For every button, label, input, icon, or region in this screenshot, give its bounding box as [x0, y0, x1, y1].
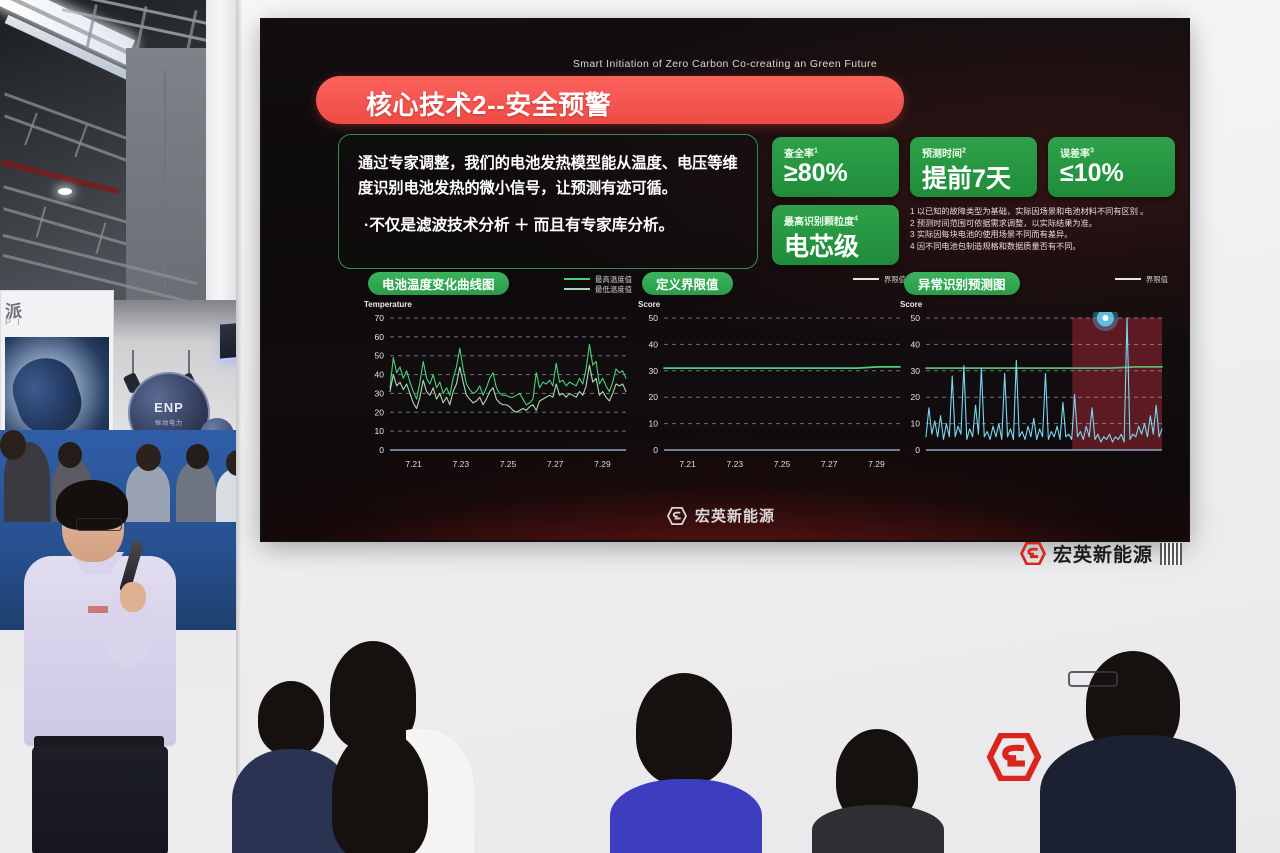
svg-text:30: 30 — [375, 388, 385, 398]
legend-swatch — [564, 278, 590, 280]
kpi-label: 查全率1 — [784, 145, 818, 160]
kpi-value: 电芯级 — [784, 227, 859, 263]
hongying-hex-icon — [667, 507, 687, 525]
footnote-1: 1 以已知的故障类型为基础，实际因场景和电池材料不同有区别 。 — [910, 206, 1178, 218]
kpi-value: ≤10% — [1060, 159, 1124, 188]
svg-text:7.25: 7.25 — [500, 459, 517, 469]
slide-body-paragraph: 通过专家调整，我们的电池发热模型能从温度、电压等维度识别电池发热的微小信号，让预… — [358, 151, 742, 201]
svg-text:70: 70 — [375, 313, 385, 323]
slide-eyebrow: Smart Initiation of Zero Carbon Co-creat… — [262, 58, 1188, 70]
svg-text:7.23: 7.23 — [727, 459, 744, 469]
kpi-label: 最高识别颗粒度4 — [784, 213, 858, 228]
svg-text:7.29: 7.29 — [868, 459, 885, 469]
svg-text:7.21: 7.21 — [679, 459, 696, 469]
chart-plot-area: 01020304050 — [896, 312, 1168, 476]
chart-plot-area: 0102030405060707.217.237.257.277.29 — [360, 312, 632, 476]
slide-footnotes: 1 以已知的故障类型为基础，实际因场景和电池材料不同有区别 。 2 预测时间范围… — [910, 206, 1178, 252]
kpi-card-recall: 查全率1 ≥80% — [772, 137, 899, 197]
presentation-screen[interactable]: Smart Initiation of Zero Carbon Co-creat… — [262, 20, 1188, 540]
svg-text:50: 50 — [649, 313, 659, 323]
svg-text:40: 40 — [375, 370, 385, 380]
svg-text:10: 10 — [375, 426, 385, 436]
svg-text:20: 20 — [911, 392, 921, 402]
svg-text:7.25: 7.25 — [774, 459, 791, 469]
svg-text:40: 40 — [649, 339, 659, 349]
legend-label: 界限值 — [1146, 274, 1168, 285]
svg-text:20: 20 — [649, 392, 659, 402]
legend-swatch — [564, 288, 590, 290]
footnote-2: 2 预测时间范围可依据需求调整，以实际结果为准。 — [910, 218, 1178, 230]
slide-footer-logo: 宏英新能源 — [667, 505, 775, 526]
chart-plot-area: 010203040507.217.237.257.277.29 — [634, 312, 906, 476]
svg-text:50: 50 — [375, 351, 385, 361]
svg-text:7.21: 7.21 — [405, 459, 422, 469]
audience-row: ONGI — [0, 553, 1280, 853]
chart-temperature: 电池温度变化曲线图 最高温度值 最低温度值 Temperature 010203… — [360, 272, 632, 484]
chart-title: 定义界限值 — [642, 272, 733, 295]
glasses-icon — [76, 518, 122, 531]
svg-text:0: 0 — [653, 445, 658, 455]
svg-text:30: 30 — [649, 366, 659, 376]
svg-text:40: 40 — [911, 339, 921, 349]
svg-text:20: 20 — [375, 407, 385, 417]
legend-swatch — [1115, 278, 1141, 280]
svg-text:7.27: 7.27 — [821, 459, 838, 469]
svg-text:50: 50 — [911, 313, 921, 323]
svg-text:10: 10 — [649, 419, 659, 429]
svg-text:7.23: 7.23 — [453, 459, 470, 469]
kpi-card-lead-time: 预测时间2 提前7天 — [910, 137, 1037, 197]
svg-text:60: 60 — [375, 332, 385, 342]
footnote-4: 4 因不同电池包制造规格和数据质量否有不同。 — [910, 241, 1178, 253]
screenshot-scene: 派 P I ENP 恒动电力 — [0, 0, 1280, 853]
svg-text:30: 30 — [911, 366, 921, 376]
kpi-value: 提前7天 — [922, 159, 1011, 195]
left-booth-sub: P I — [5, 317, 22, 327]
kpi-label: 预测时间2 — [922, 145, 966, 160]
slide-title-banner: 核心技术2--安全预警 — [316, 76, 904, 124]
svg-text:10: 10 — [911, 419, 921, 429]
chart-legend: 最高温度值 最低温度值 — [564, 274, 632, 294]
slide-body-card: 通过专家调整，我们的电池发热模型能从温度、电压等维度识别电池发热的微小信号，让预… — [338, 134, 758, 269]
chart-title: 电池温度变化曲线图 — [368, 272, 509, 295]
chart-title: 异常识别预测图 — [904, 272, 1020, 295]
svg-text:0: 0 — [379, 445, 384, 455]
svg-text:0: 0 — [915, 445, 920, 455]
kpi-value: ≥80% — [784, 159, 848, 188]
kpi-label: 误差率3 — [1060, 145, 1094, 160]
footnote-3: 3 实际因每块电池的使用场景不同而有差异。 — [910, 229, 1178, 241]
legend-label: 最低温度值 — [595, 284, 632, 295]
chart-y-axis-label: Score — [638, 300, 660, 309]
kpi-card-granularity: 最高识别颗粒度4 电芯级 — [772, 205, 899, 265]
svg-text:7.29: 7.29 — [594, 459, 611, 469]
slide-body-bullet: ·不仅是滤波技术分析 ＋ 而且有专家库分析。 — [364, 213, 746, 238]
chart-anomaly-prediction: 异常识别预测图 界限值 Score 01020304050 — [896, 272, 1168, 484]
chart-y-axis-label: Score — [900, 300, 922, 309]
legend-swatch — [853, 278, 879, 280]
chart-y-axis-label: Temperature — [364, 300, 412, 309]
slide-title: 核心技术2--安全预警 — [366, 85, 611, 122]
slide-logo-text: 宏英新能源 — [695, 505, 775, 526]
chart-legend: 界限值 — [1115, 274, 1168, 284]
svg-text:7.27: 7.27 — [547, 459, 564, 469]
chart-threshold: 定义界限值 界限值 Score 010203040507.217.237.257… — [634, 272, 906, 484]
kpi-card-error-rate: 误差率3 ≤10% — [1048, 137, 1175, 197]
